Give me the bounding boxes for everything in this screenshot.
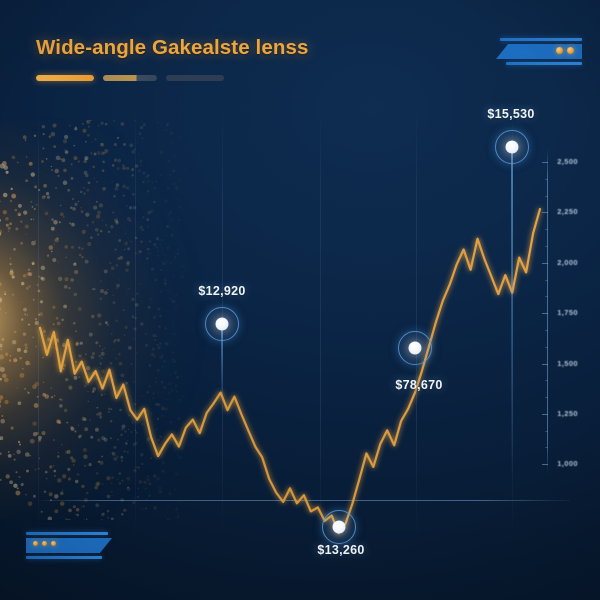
y-axis-tick <box>542 414 548 415</box>
marker-dot <box>216 318 229 331</box>
y-axis-minor-tick <box>545 196 548 197</box>
y-axis-minor-tick <box>545 280 548 281</box>
marker-value-label: $15,530 <box>487 107 534 121</box>
y-axis-tick <box>542 313 548 314</box>
page-title: Wide-angle Gakealste lenss <box>36 36 308 60</box>
y-axis-tick <box>542 464 548 465</box>
y-axis-tick-label: 1,500 <box>557 359 578 368</box>
y-axis-tick-label: 1,000 <box>557 459 578 468</box>
y-axis-minor-tick <box>545 397 548 398</box>
y-axis-tick-label: 2,000 <box>557 258 578 267</box>
y-axis-minor-tick <box>545 447 548 448</box>
marker-dot <box>333 521 346 534</box>
y-axis-tick-label: 2,250 <box>557 207 578 216</box>
y-axis-tick <box>542 162 548 163</box>
marker-dot <box>506 141 519 154</box>
banner-dot-icon <box>51 541 56 546</box>
y-axis-tick <box>542 212 548 213</box>
y-axis-minor-tick <box>545 330 548 331</box>
y-axis-minor-tick <box>545 380 548 381</box>
y-axis-tick <box>542 263 548 264</box>
progress-segments <box>36 75 308 81</box>
y-axis-tick <box>542 364 548 365</box>
y-axis-minor-tick <box>545 179 548 180</box>
y-axis-tick-label: 1,250 <box>557 409 578 418</box>
progress-segment-empty[interactable] <box>166 75 224 81</box>
line-series <box>0 0 600 600</box>
marker-value-label: $78,670 <box>395 378 442 392</box>
top-right-banner[interactable] <box>496 38 582 70</box>
progress-segment-partial[interactable] <box>103 75 157 81</box>
y-axis-minor-tick <box>545 246 548 247</box>
y-axis-tick-label: 1,750 <box>557 308 578 317</box>
chart-canvas: 2,5002,2502,0001,7501,5001,2501,000 $12,… <box>0 0 600 600</box>
y-axis-minor-tick <box>545 229 548 230</box>
marker-dot <box>409 342 422 355</box>
banner-dot-icon <box>42 541 47 546</box>
title-block: Wide-angle Gakealste lenss <box>36 36 308 81</box>
marker-dropline <box>511 147 513 475</box>
progress-segment-filled[interactable] <box>36 75 94 81</box>
y-axis-minor-tick <box>545 431 548 432</box>
banner-dot-icon <box>33 541 38 546</box>
marker-value-label: $12,920 <box>198 284 245 298</box>
bottom-left-banner[interactable] <box>26 532 112 564</box>
y-axis-minor-tick <box>545 347 548 348</box>
y-axis-tick-label: 2,500 <box>557 157 578 166</box>
y-axis-minor-tick <box>545 296 548 297</box>
y-axis-line <box>547 148 548 473</box>
banner-dot-icon <box>567 47 574 54</box>
marker-value-label: $13,260 <box>317 543 364 557</box>
banner-dot-icon <box>556 47 563 54</box>
